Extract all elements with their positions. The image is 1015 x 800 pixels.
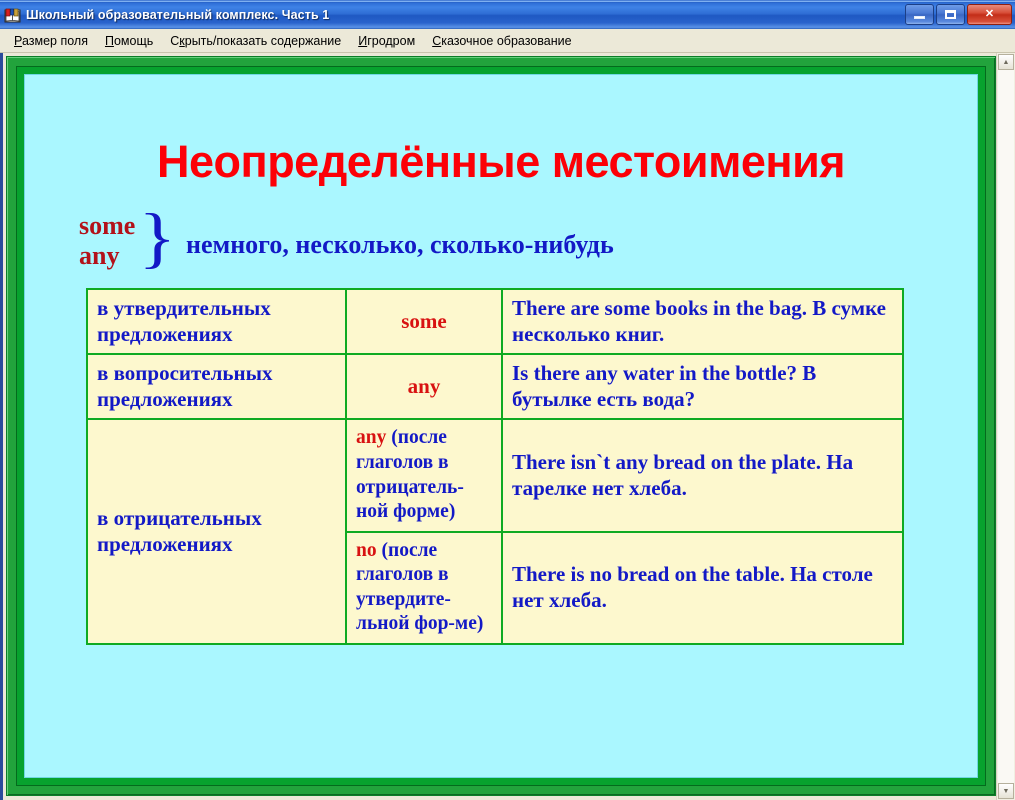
scroll-up-button[interactable]: ▲ <box>998 54 1014 70</box>
grammar-table-wrapper: в утвердительных предложениях some There… <box>24 288 978 645</box>
menu-accel: П <box>105 34 114 48</box>
menu-accel: И <box>358 34 367 48</box>
menu-label-post: рыть/показать содержание <box>185 34 341 48</box>
cell-word-no: no (после глаголов в утвердите-льной фор… <box>346 532 502 644</box>
word-main: no <box>356 540 377 561</box>
curly-brace-icon: } <box>139 211 177 264</box>
title-bar: Школьный образовательный комплекс. Часть… <box>0 0 1015 29</box>
grammar-table: в утвердительных предложениях some There… <box>86 288 904 645</box>
legend-words: some any <box>79 211 135 269</box>
cell-word-any: any <box>346 354 502 419</box>
menu-label-post: гродром <box>367 34 415 48</box>
menu-item-fairytale-education[interactable]: Сказочное образование <box>424 31 580 51</box>
maximize-glyph <box>937 5 964 24</box>
cell-example-any: Is there any water in the bottle? В буты… <box>502 354 903 419</box>
client-area: Неопределённые местоимения some any } не… <box>0 53 1015 800</box>
table-row: в отрицательных предложениях any (после … <box>87 419 903 531</box>
minimize-button[interactable] <box>905 4 934 25</box>
cell-example-any-negative: There isn`t any bread on the plate. На т… <box>502 419 903 531</box>
menu-label-pre: С <box>170 34 179 48</box>
cell-example-no: There is no bread on the table. На столе… <box>502 532 903 644</box>
legend-translation: немного, несколько, сколько-нибудь <box>186 222 614 260</box>
menu-accel: Р <box>14 34 22 48</box>
page-title: Неопределённые местоимения <box>24 136 978 188</box>
legend-word-any: any <box>79 241 135 270</box>
close-button[interactable]: ✕ <box>967 4 1012 25</box>
minimize-glyph <box>906 5 933 24</box>
application-window: Школьный образовательный комплекс. Часть… <box>0 0 1015 800</box>
word-main: some <box>401 309 447 333</box>
menu-item-igrodrom[interactable]: Игродром <box>350 31 424 51</box>
table-row: в утвердительных предложениях some There… <box>87 289 903 354</box>
cell-case-affirmative: в утвердительных предложениях <box>87 289 346 354</box>
window-controls: ✕ <box>905 4 1012 25</box>
cell-example-some: There are some books in the bag. В сумке… <box>502 289 903 354</box>
window-title: Школьный образовательный комплекс. Часть… <box>26 8 329 22</box>
slide-frame-inner: Неопределённые местоимения some any } не… <box>16 66 986 786</box>
menu-label-post: азмер поля <box>22 34 88 48</box>
cell-word-some: some <box>346 289 502 354</box>
menu-item-field-size[interactable]: Размер поля <box>6 31 97 51</box>
scroll-down-button[interactable]: ▼ <box>998 783 1014 799</box>
word-main: any <box>408 374 441 398</box>
maximize-button[interactable] <box>936 4 965 25</box>
cell-word-any-negative: any (после глаголов в отрицатель-ной фор… <box>346 419 502 531</box>
close-glyph: ✕ <box>968 5 1011 24</box>
legend-word-some: some <box>79 211 135 240</box>
menu-item-toggle-contents[interactable]: Скрыть/показать содержание <box>162 31 350 51</box>
legend-row: some any } немного, несколько, сколько-н… <box>24 211 978 270</box>
vertical-scrollbar[interactable]: ▲ ▼ <box>996 53 1015 800</box>
menu-label-post: казочное образование <box>441 34 571 48</box>
menu-label-post: омощь <box>114 34 153 48</box>
menu-accel: С <box>432 34 441 48</box>
table-row: в вопросительных предложениях any Is the… <box>87 354 903 419</box>
cell-case-negative: в отрицательных предложениях <box>87 419 346 644</box>
slide-canvas: Неопределённые местоимения some any } не… <box>24 74 978 778</box>
slide-frame-outer: Неопределённые местоимения some any } не… <box>6 56 996 796</box>
menu-item-help[interactable]: Помощь <box>97 31 162 51</box>
book-icon <box>4 7 21 24</box>
cell-case-interrogative: в вопросительных предложениях <box>87 354 346 419</box>
word-main: any <box>356 427 386 448</box>
menu-bar: Размер поля Помощь Скрыть/показать содер… <box>0 29 1015 53</box>
scrollbar-track[interactable] <box>998 70 1014 783</box>
